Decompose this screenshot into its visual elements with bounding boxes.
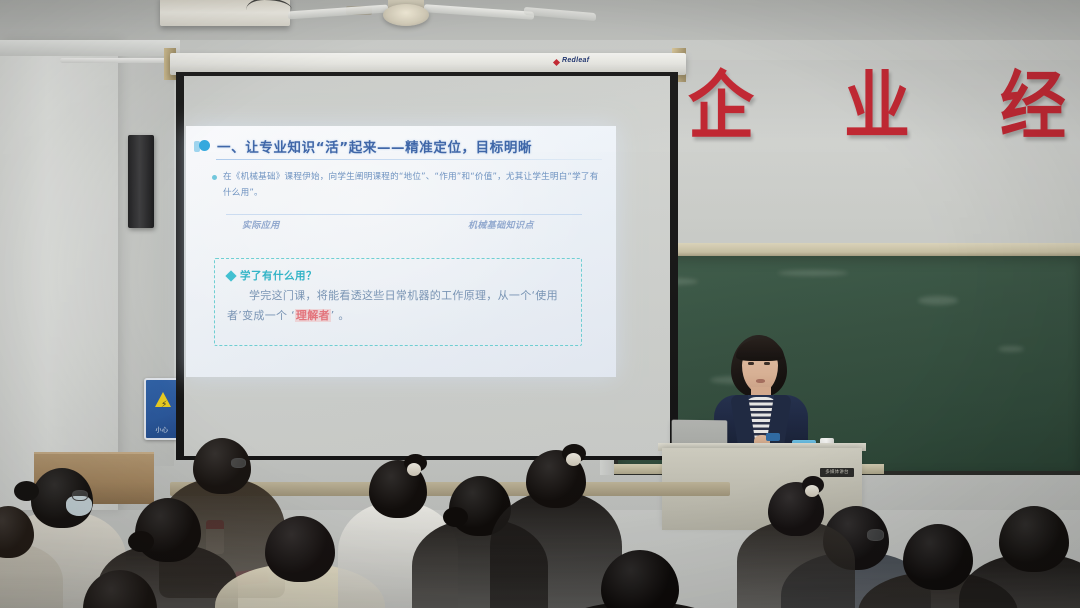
student-hair-bun <box>14 481 39 501</box>
student-head <box>83 570 157 608</box>
callout-header: 学了有什么用？ <box>227 268 571 283</box>
brand-diamond-icon <box>553 59 560 66</box>
student-right-edge <box>959 506 1080 608</box>
blackboard-top-trim <box>614 243 1080 256</box>
bullet-row: 在《机械基础》课程伊始，向学生阐明课程的“地位”、“作用”和“价值”，尤其让学生… <box>212 169 604 201</box>
callout-body: 学完这门课，将能看透这些日常机器的工作原理，从一个‘使用者’变成一个 ‘理解者’… <box>227 286 571 326</box>
wall-char-1: 企 <box>688 70 754 144</box>
blue-circle-icon <box>194 139 209 154</box>
bullet-dot-icon <box>212 175 217 180</box>
slide-title-row: 一、让专业知识“活”起来——精准定位，目标明晰 <box>194 136 608 156</box>
diamond-icon <box>225 270 236 281</box>
lecturer-eye-left <box>748 362 754 365</box>
slide-callout-box: 学了有什么用？ 学完这门课，将能看透这些日常机器的工作原理，从一个‘使用者’变成… <box>214 258 582 346</box>
callout-body-post: ’ 。 <box>331 309 350 322</box>
projector-cable <box>246 0 292 10</box>
slide-title: 一、让专业知识“活”起来——精准定位，目标明晰 <box>217 136 532 156</box>
screen-brand-label: Redleaf <box>562 57 589 64</box>
electric-bolt-icon: ⚡ <box>161 400 167 409</box>
wall-char-2: 业 <box>844 70 910 144</box>
wall-speaker <box>128 135 154 228</box>
callout-title: 学了有什么用？ <box>240 268 317 283</box>
classroom-photo: 企 业 经 ⚡ 小心 Redleaf 一、让专业知识“活”起来——精准定位，目标… <box>0 0 1080 608</box>
student-bottom-left <box>35 570 205 608</box>
eyeglasses <box>72 490 88 501</box>
lecturer-eye-right <box>764 362 770 365</box>
student-head <box>601 550 679 608</box>
wall-char-3: 经 <box>1000 70 1066 144</box>
student-head <box>999 506 1069 572</box>
student-head <box>135 498 201 562</box>
callout-highlight: 理解者 <box>295 309 331 322</box>
eyeglasses <box>231 458 246 468</box>
label-knowledge-points: 机械基础知识点 <box>468 218 534 231</box>
wall-conduit <box>60 58 176 63</box>
callout-body-pre: 学完这门课，将能看透这些日常机器的工作原理，从一个‘使用者’变成一个 ‘ <box>227 289 558 322</box>
student-head <box>265 516 335 582</box>
slide-sub-divider <box>226 214 582 215</box>
slide-bullet-block: 在《机械基础》课程伊始，向学生阐明课程的“地位”、“作用”和“价值”，尤其让学生… <box>212 169 604 201</box>
audience-area <box>0 420 1080 608</box>
wall-slogan: 企 业 经 <box>660 62 1080 152</box>
student-hair-bun <box>443 507 468 527</box>
ceiling-fan <box>383 4 429 26</box>
label-practical-application: 实际应用 <box>242 218 280 231</box>
ceiling-soffit <box>0 40 180 56</box>
title-divider <box>216 159 602 160</box>
bullet-text: 在《机械基础》课程伊始，向学生阐明课程的“地位”、“作用”和“价值”，尤其让学生… <box>223 169 604 201</box>
lecturer-mouth <box>756 379 765 383</box>
student-right-far <box>737 482 855 608</box>
presentation-slide: 一、让专业知识“活”起来——精准定位，目标明晰 在《机械基础》课程伊始，向学生阐… <box>186 126 616 377</box>
student-bottom-dark <box>550 550 730 608</box>
